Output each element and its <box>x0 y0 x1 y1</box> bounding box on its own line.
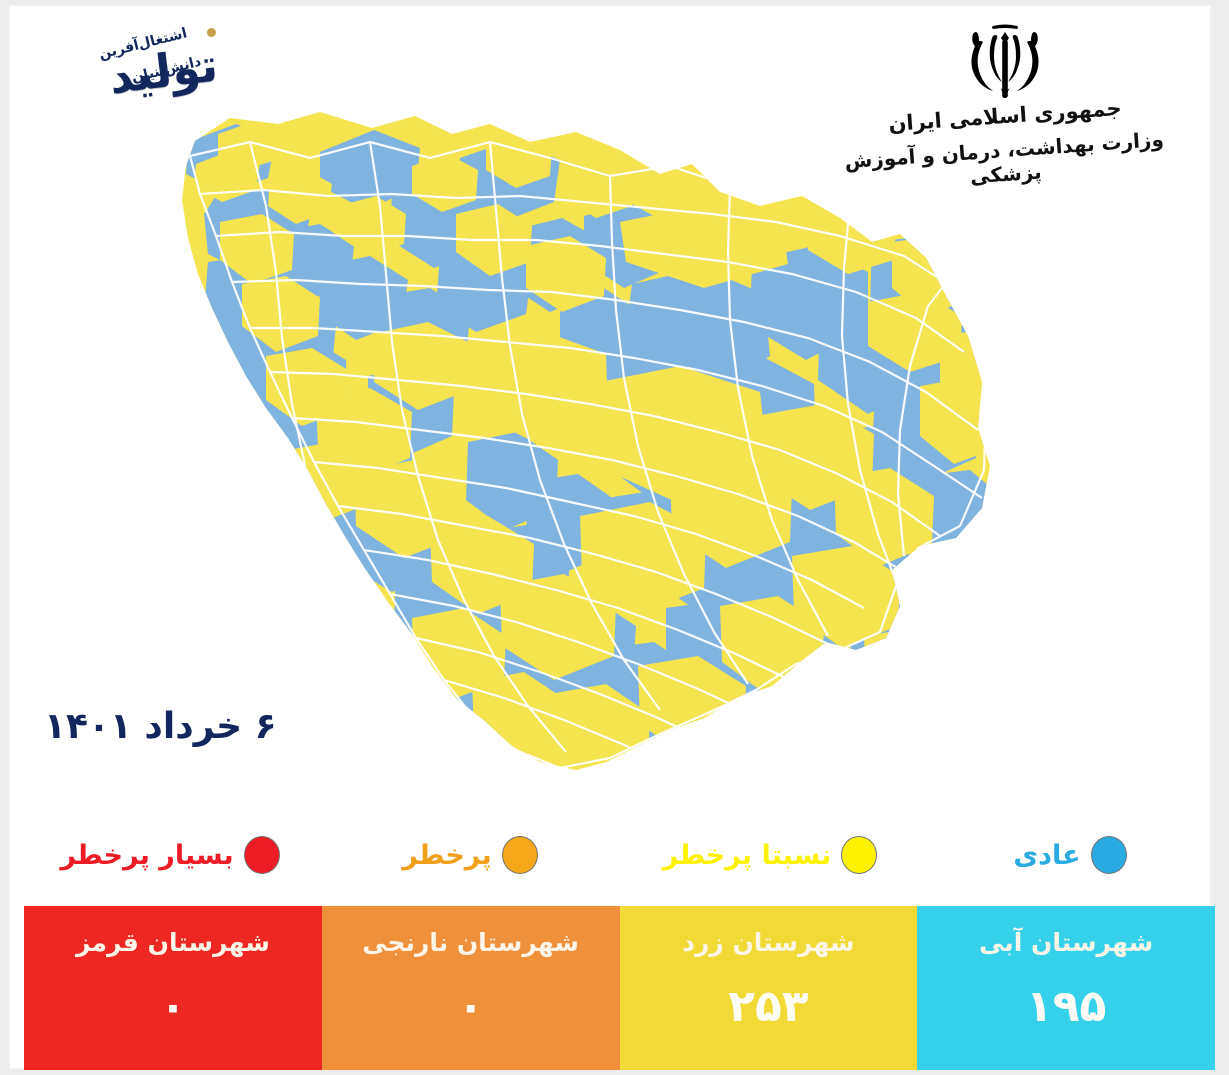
content-card: اشتغال‌آفرین دانش‌بنیان تولید جمهوری اسل… <box>10 6 1210 1068</box>
stat-cell-orange[interactable]: شهرستان نارنجی ۰ <box>322 906 620 1070</box>
stat-value-red: ۰ <box>159 981 186 1032</box>
legend-item-high-risk[interactable]: پرخطر <box>320 836 620 874</box>
yellow-circle-icon <box>841 836 877 874</box>
risk-legend: بسیار پرخطر پرخطر نسبتا پرخطر عادی <box>20 824 1220 886</box>
red-circle-icon <box>244 836 280 874</box>
stat-label-blue: شهرستان آبی <box>979 928 1153 957</box>
stat-value-blue: ۱۹۵ <box>1026 981 1107 1032</box>
gold-dot-icon <box>207 28 216 37</box>
stat-value-yellow: ۲۵۳ <box>728 981 809 1032</box>
legend-label-moderate-risk: نسبتا پرخطر <box>663 840 832 871</box>
stat-cell-yellow[interactable]: شهرستان زرد ۲۵۳ <box>620 906 918 1070</box>
county-count-summary: شهرستان قرمز ۰ شهرستان نارنجی ۰ شهرستان … <box>24 906 1215 1070</box>
stat-label-yellow: شهرستان زرد <box>682 928 854 957</box>
map-container <box>20 46 1210 816</box>
covid-risk-map-page: اشتغال‌آفرین دانش‌بنیان تولید جمهوری اسل… <box>0 0 1229 1075</box>
stat-label-red: شهرستان قرمز <box>76 928 270 957</box>
blue-circle-icon <box>1091 836 1127 874</box>
legend-label-high-risk: پرخطر <box>402 840 492 871</box>
legend-item-very-high-risk[interactable]: بسیار پرخطر <box>20 836 320 874</box>
stat-label-orange: شهرستان نارنجی <box>362 928 579 957</box>
map-regions <box>20 46 1210 816</box>
report-date: ۶ خرداد ۱۴۰۱ <box>44 706 277 747</box>
legend-item-moderate-risk[interactable]: نسبتا پرخطر <box>620 836 920 874</box>
stat-value-orange: ۰ <box>457 981 484 1032</box>
iran-county-risk-map[interactable] <box>20 46 1210 816</box>
legend-label-very-high-risk: بسیار پرخطر <box>60 840 233 871</box>
orange-circle-icon <box>502 836 538 874</box>
stat-cell-blue[interactable]: شهرستان آبی ۱۹۵ <box>917 906 1215 1070</box>
legend-item-normal[interactable]: عادی <box>920 836 1220 874</box>
legend-label-normal: عادی <box>1013 840 1080 871</box>
stat-cell-red[interactable]: شهرستان قرمز ۰ <box>24 906 322 1070</box>
